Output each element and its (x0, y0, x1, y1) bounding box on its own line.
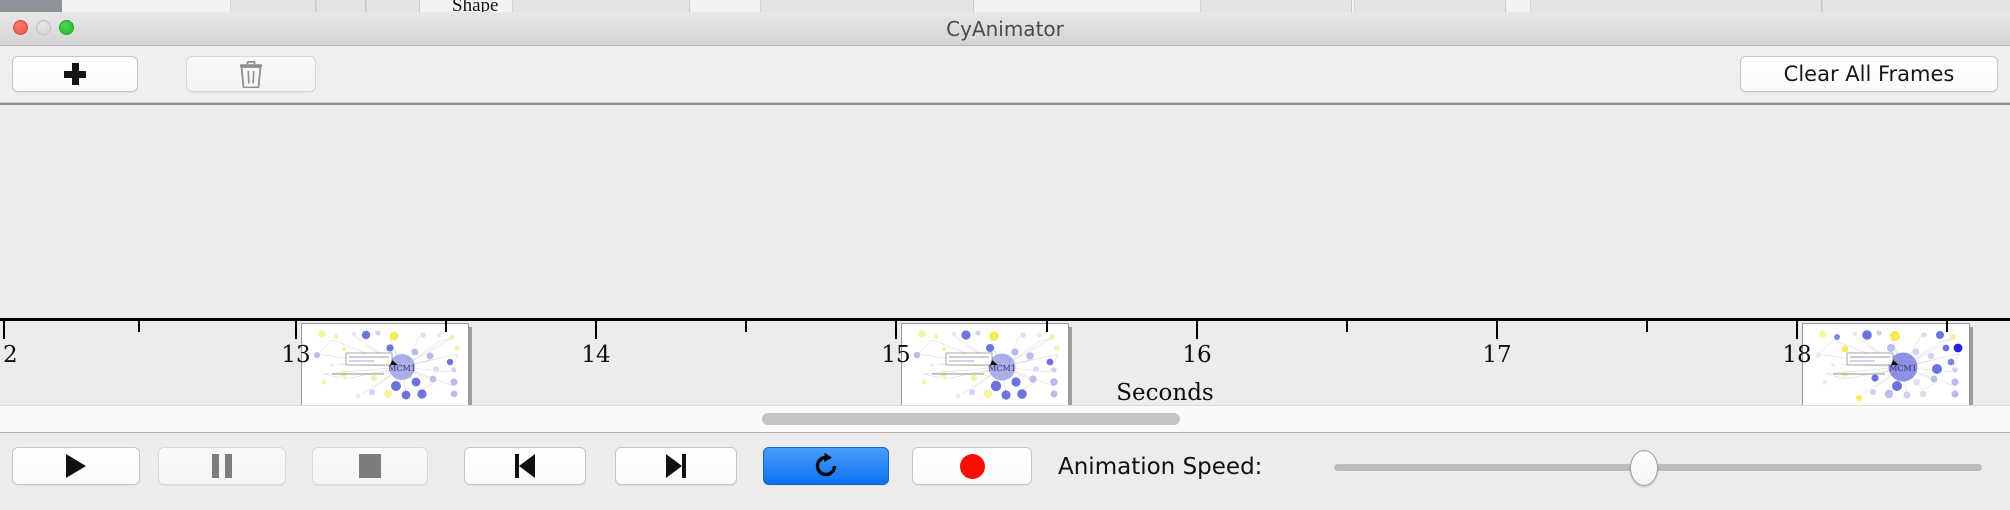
loop-icon (812, 452, 840, 480)
axis-tick-major (1196, 321, 1198, 339)
axis-tick-major (1796, 321, 1798, 339)
background-window-chip (366, 0, 420, 12)
background-window-chip (1354, 0, 1506, 12)
background-window-chip (230, 0, 316, 12)
axis-tick-major (595, 321, 597, 339)
pause-icon (212, 454, 232, 478)
slider-thumb[interactable] (1630, 450, 1658, 486)
desktop-backdrop: Shape (0, 0, 2010, 12)
animation-speed-slider[interactable] (1334, 447, 1982, 487)
axis-tick-label: 13 (281, 342, 310, 368)
axis-tick-minor (1946, 321, 1948, 332)
axis-tick-minor (138, 321, 140, 332)
next-frame-button[interactable] (615, 447, 737, 485)
stop-icon (359, 454, 381, 478)
background-window-text: Shape (452, 0, 498, 12)
plus-icon (64, 63, 86, 85)
window-title: CyAnimator (0, 17, 2010, 41)
skip-back-icon (515, 454, 535, 478)
timeline-scrollbar-thumb[interactable] (762, 413, 1180, 425)
axis-tick-label: 12 (0, 342, 18, 368)
animation-speed-label: Animation Speed: (1058, 454, 1262, 480)
cyanimator-window: CyAnimator Clear All Frames (0, 12, 2010, 510)
timeline-panel[interactable]: MCM1 (0, 103, 2010, 405)
timeline-axis[interactable]: 12 13 14 15 16 17 18 Seconds (0, 318, 2010, 405)
background-window-chip (0, 0, 62, 12)
axis-tick-major (3, 321, 5, 339)
axis-tick-label: 18 (1782, 342, 1811, 368)
background-window-chip (316, 0, 366, 12)
axis-line (0, 318, 2010, 321)
play-icon (66, 454, 86, 478)
trash-icon (239, 61, 263, 88)
axis-tick-label: 17 (1482, 342, 1511, 368)
stop-button[interactable] (312, 447, 428, 485)
axis-tick-label: 14 (581, 342, 610, 368)
background-window-chip (760, 0, 974, 12)
title-bar: CyAnimator (0, 12, 2010, 46)
axis-tick-label: 15 (881, 342, 910, 368)
background-window-chip (1530, 0, 1822, 12)
record-button[interactable] (912, 447, 1032, 485)
record-icon (960, 454, 985, 479)
loop-button[interactable] (763, 447, 889, 485)
background-window-chip (1200, 0, 1352, 12)
playback-bar: Animation Speed: (0, 433, 2010, 510)
add-frame-button[interactable] (12, 56, 138, 92)
axis-title: Seconds (1116, 380, 1213, 405)
axis-tick-minor (1346, 321, 1348, 332)
play-button[interactable] (12, 447, 140, 485)
timeline-scrollbar[interactable] (0, 405, 2010, 433)
delete-frame-button[interactable] (186, 56, 316, 92)
toolbar: Clear All Frames (0, 46, 2010, 103)
background-window-chip (512, 0, 690, 12)
axis-tick-minor (445, 321, 447, 332)
skip-forward-icon (666, 454, 686, 478)
axis-tick-major (895, 321, 897, 339)
axis-tick-minor (745, 321, 747, 332)
axis-tick-minor (1046, 321, 1048, 332)
axis-tick-label: 16 (1182, 342, 1211, 368)
background-window-chip (1822, 0, 2010, 12)
axis-tick-major (295, 321, 297, 339)
pause-button[interactable] (158, 447, 286, 485)
prev-frame-button[interactable] (464, 447, 586, 485)
slider-track[interactable] (1334, 464, 1982, 471)
axis-tick-major (1496, 321, 1498, 339)
clear-all-frames-button[interactable]: Clear All Frames (1740, 56, 1998, 92)
axis-tick-minor (1646, 321, 1648, 332)
